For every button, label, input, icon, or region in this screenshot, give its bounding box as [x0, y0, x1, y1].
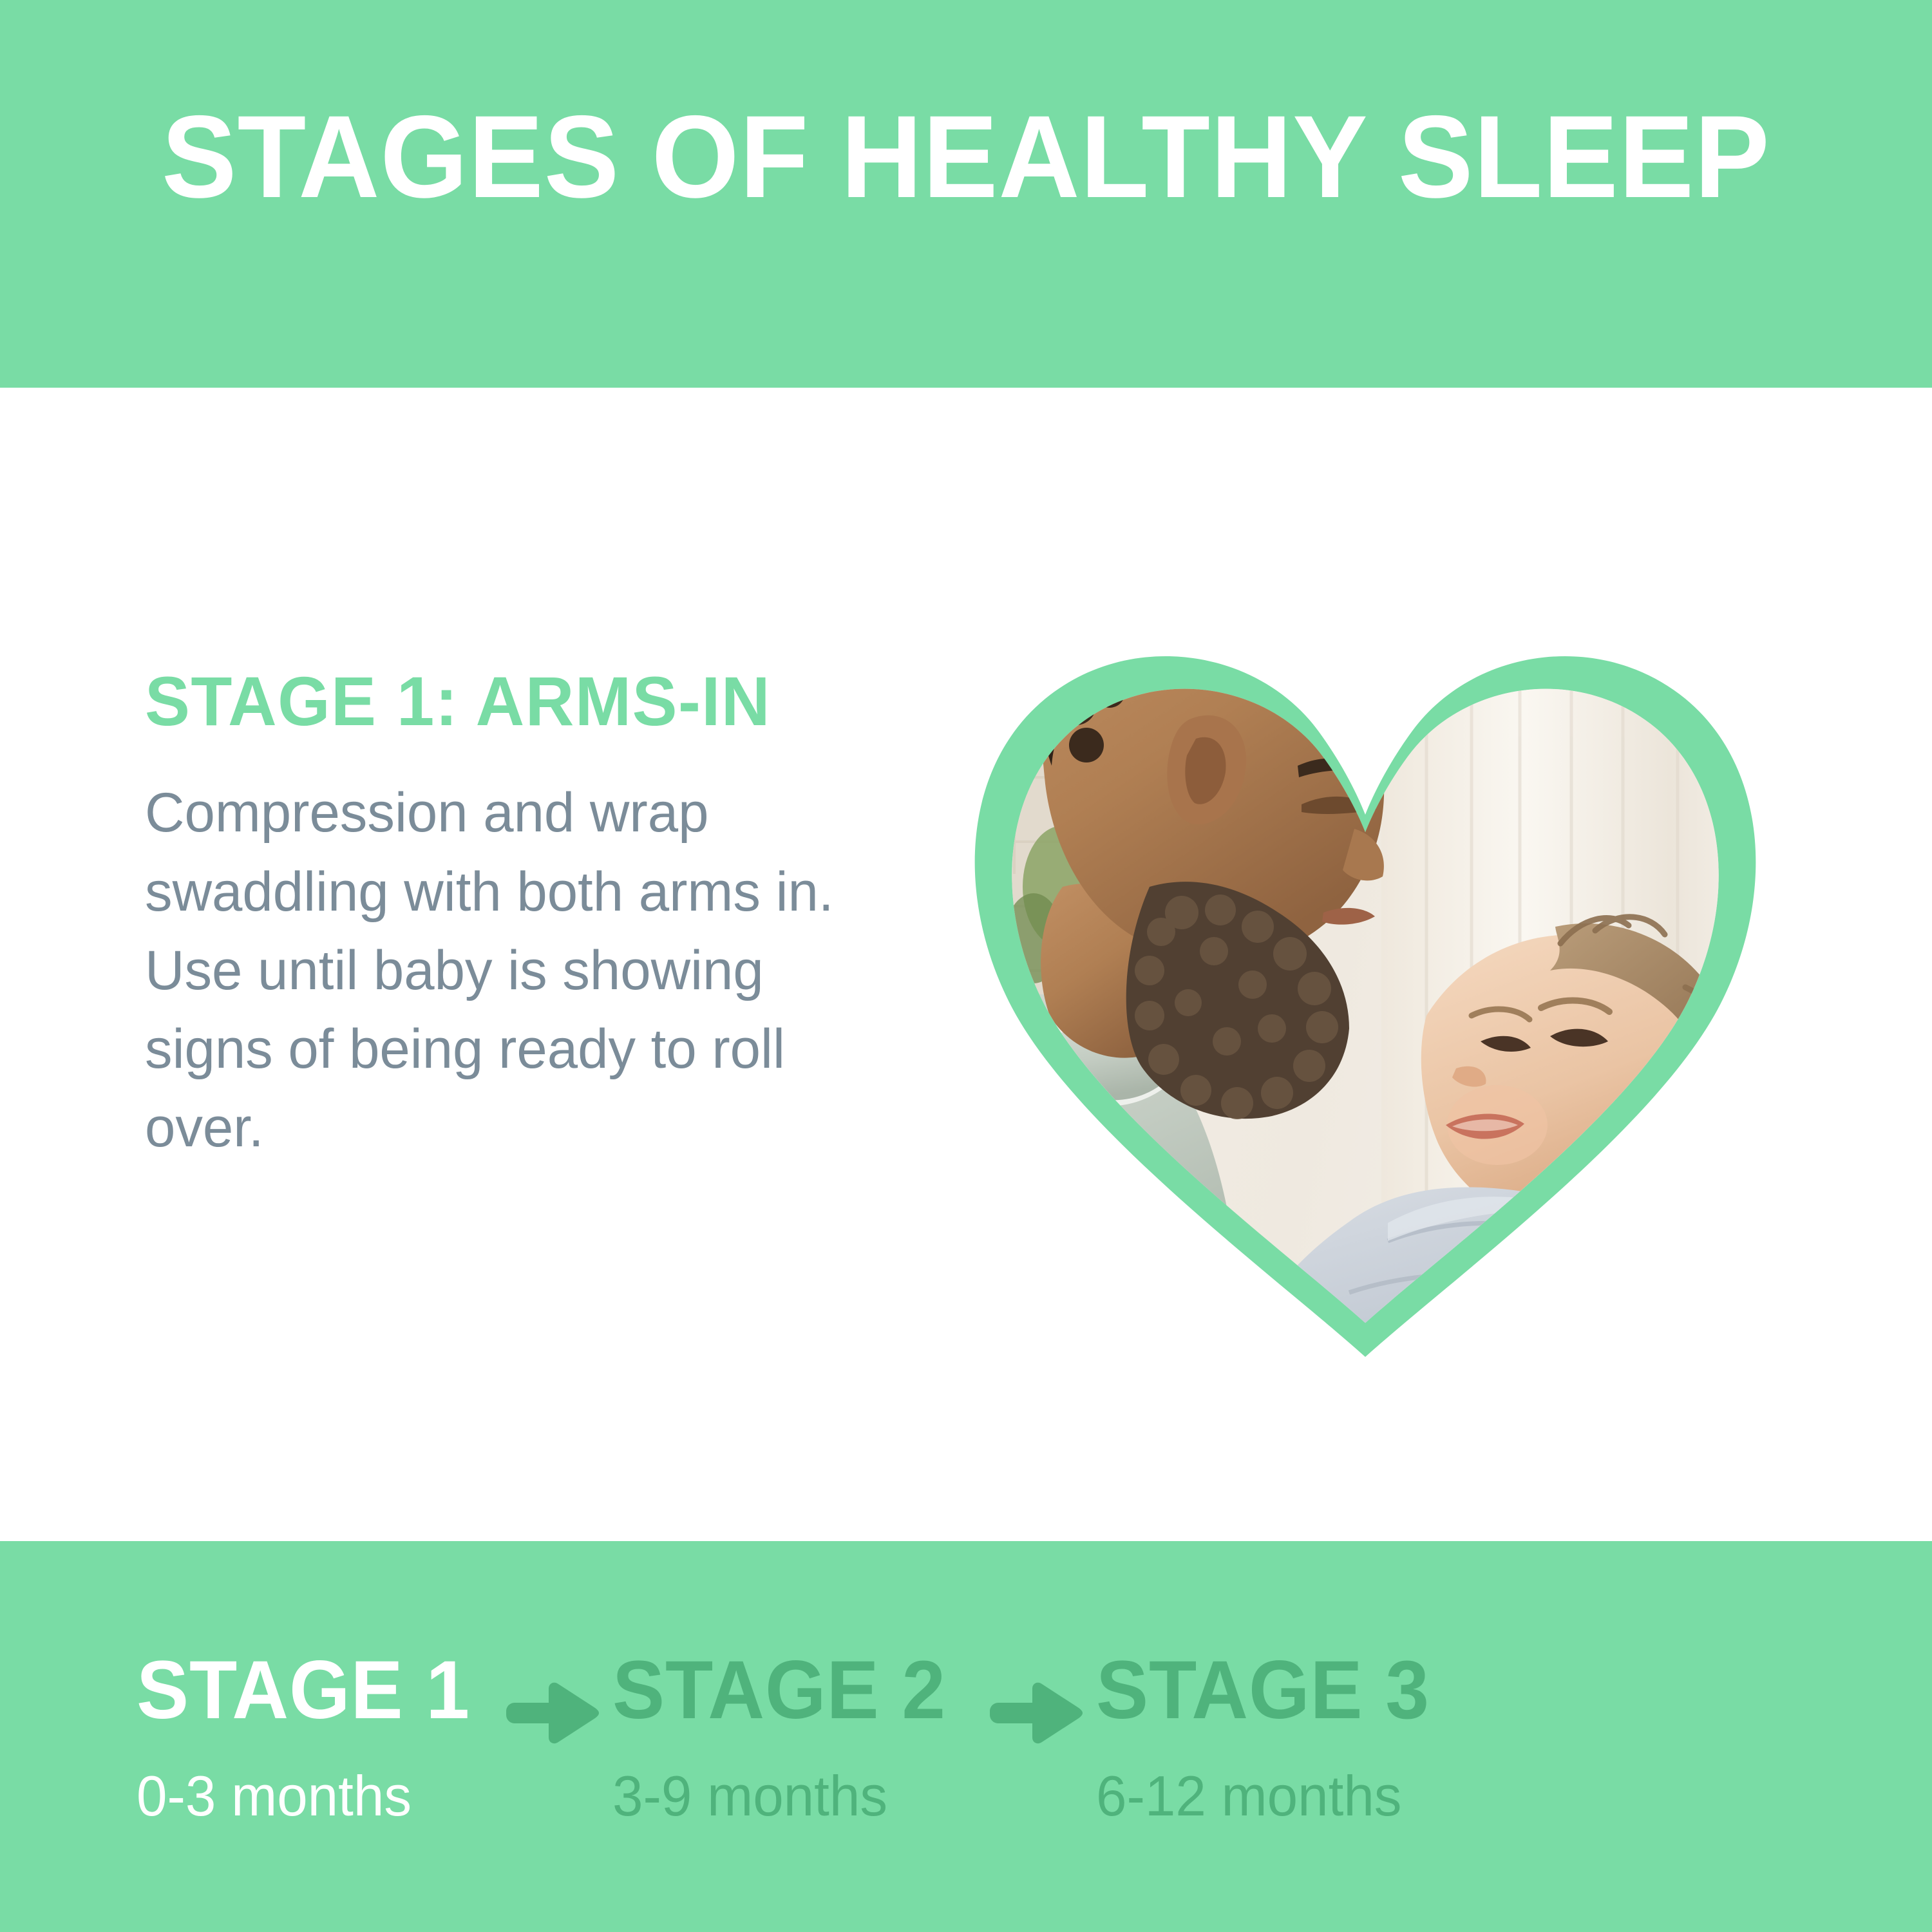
photo-content: swaddleme: [937, 526, 1794, 1392]
swaddleme-brand-tag: swaddleme: [1596, 1290, 1698, 1356]
page-title: STAGES OF HEALTHY SLEEP: [162, 98, 1770, 215]
stage-heading: STAGE 1: ARMS-IN: [145, 665, 869, 737]
stage-2-label: STAGE 2: [612, 1649, 946, 1732]
stage-1-age: 0-3 months: [137, 1768, 412, 1824]
stage-3-label: STAGE 3: [1096, 1649, 1430, 1732]
stage-item-2[interactable]: STAGE 2 3-9 months: [612, 1649, 963, 1824]
stage-1-label: STAGE 1: [137, 1649, 470, 1732]
stage-body-text: Compression and wrap swaddling with both…: [145, 773, 846, 1167]
header-band: STAGES OF HEALTHY SLEEP: [0, 0, 1932, 388]
heart-photo-svg: swaddleme: [937, 526, 1794, 1392]
stage-progress-track: STAGE 1 0-3 months STAGE 2 3-9 months ST…: [0, 1541, 1932, 1932]
stage-item-3[interactable]: STAGE 3 6-12 months: [1096, 1649, 1447, 1824]
stage-item-1[interactable]: STAGE 1 0-3 months: [137, 1649, 488, 1824]
svg-text:swaddleme: swaddleme: [1602, 1298, 1691, 1349]
stage-progress-band: STAGE 1 0-3 months STAGE 2 3-9 months ST…: [0, 1541, 1932, 1932]
swaddle-heart-logo-icon: [1484, 1265, 1552, 1330]
stage-description-block: STAGE 1: ARMS-IN Compression and wrap sw…: [145, 665, 892, 1167]
main-content-area: STAGE 1: ARMS-IN Compression and wrap sw…: [0, 388, 1932, 1541]
arrow-right-icon-2: [980, 1677, 1096, 1748]
stage-3-age: 6-12 months: [1096, 1768, 1401, 1824]
stage-2-age: 3-9 months: [612, 1768, 887, 1824]
heart-photo-frame: swaddleme: [937, 526, 1794, 1392]
arrow-right-icon-1: [497, 1677, 612, 1748]
